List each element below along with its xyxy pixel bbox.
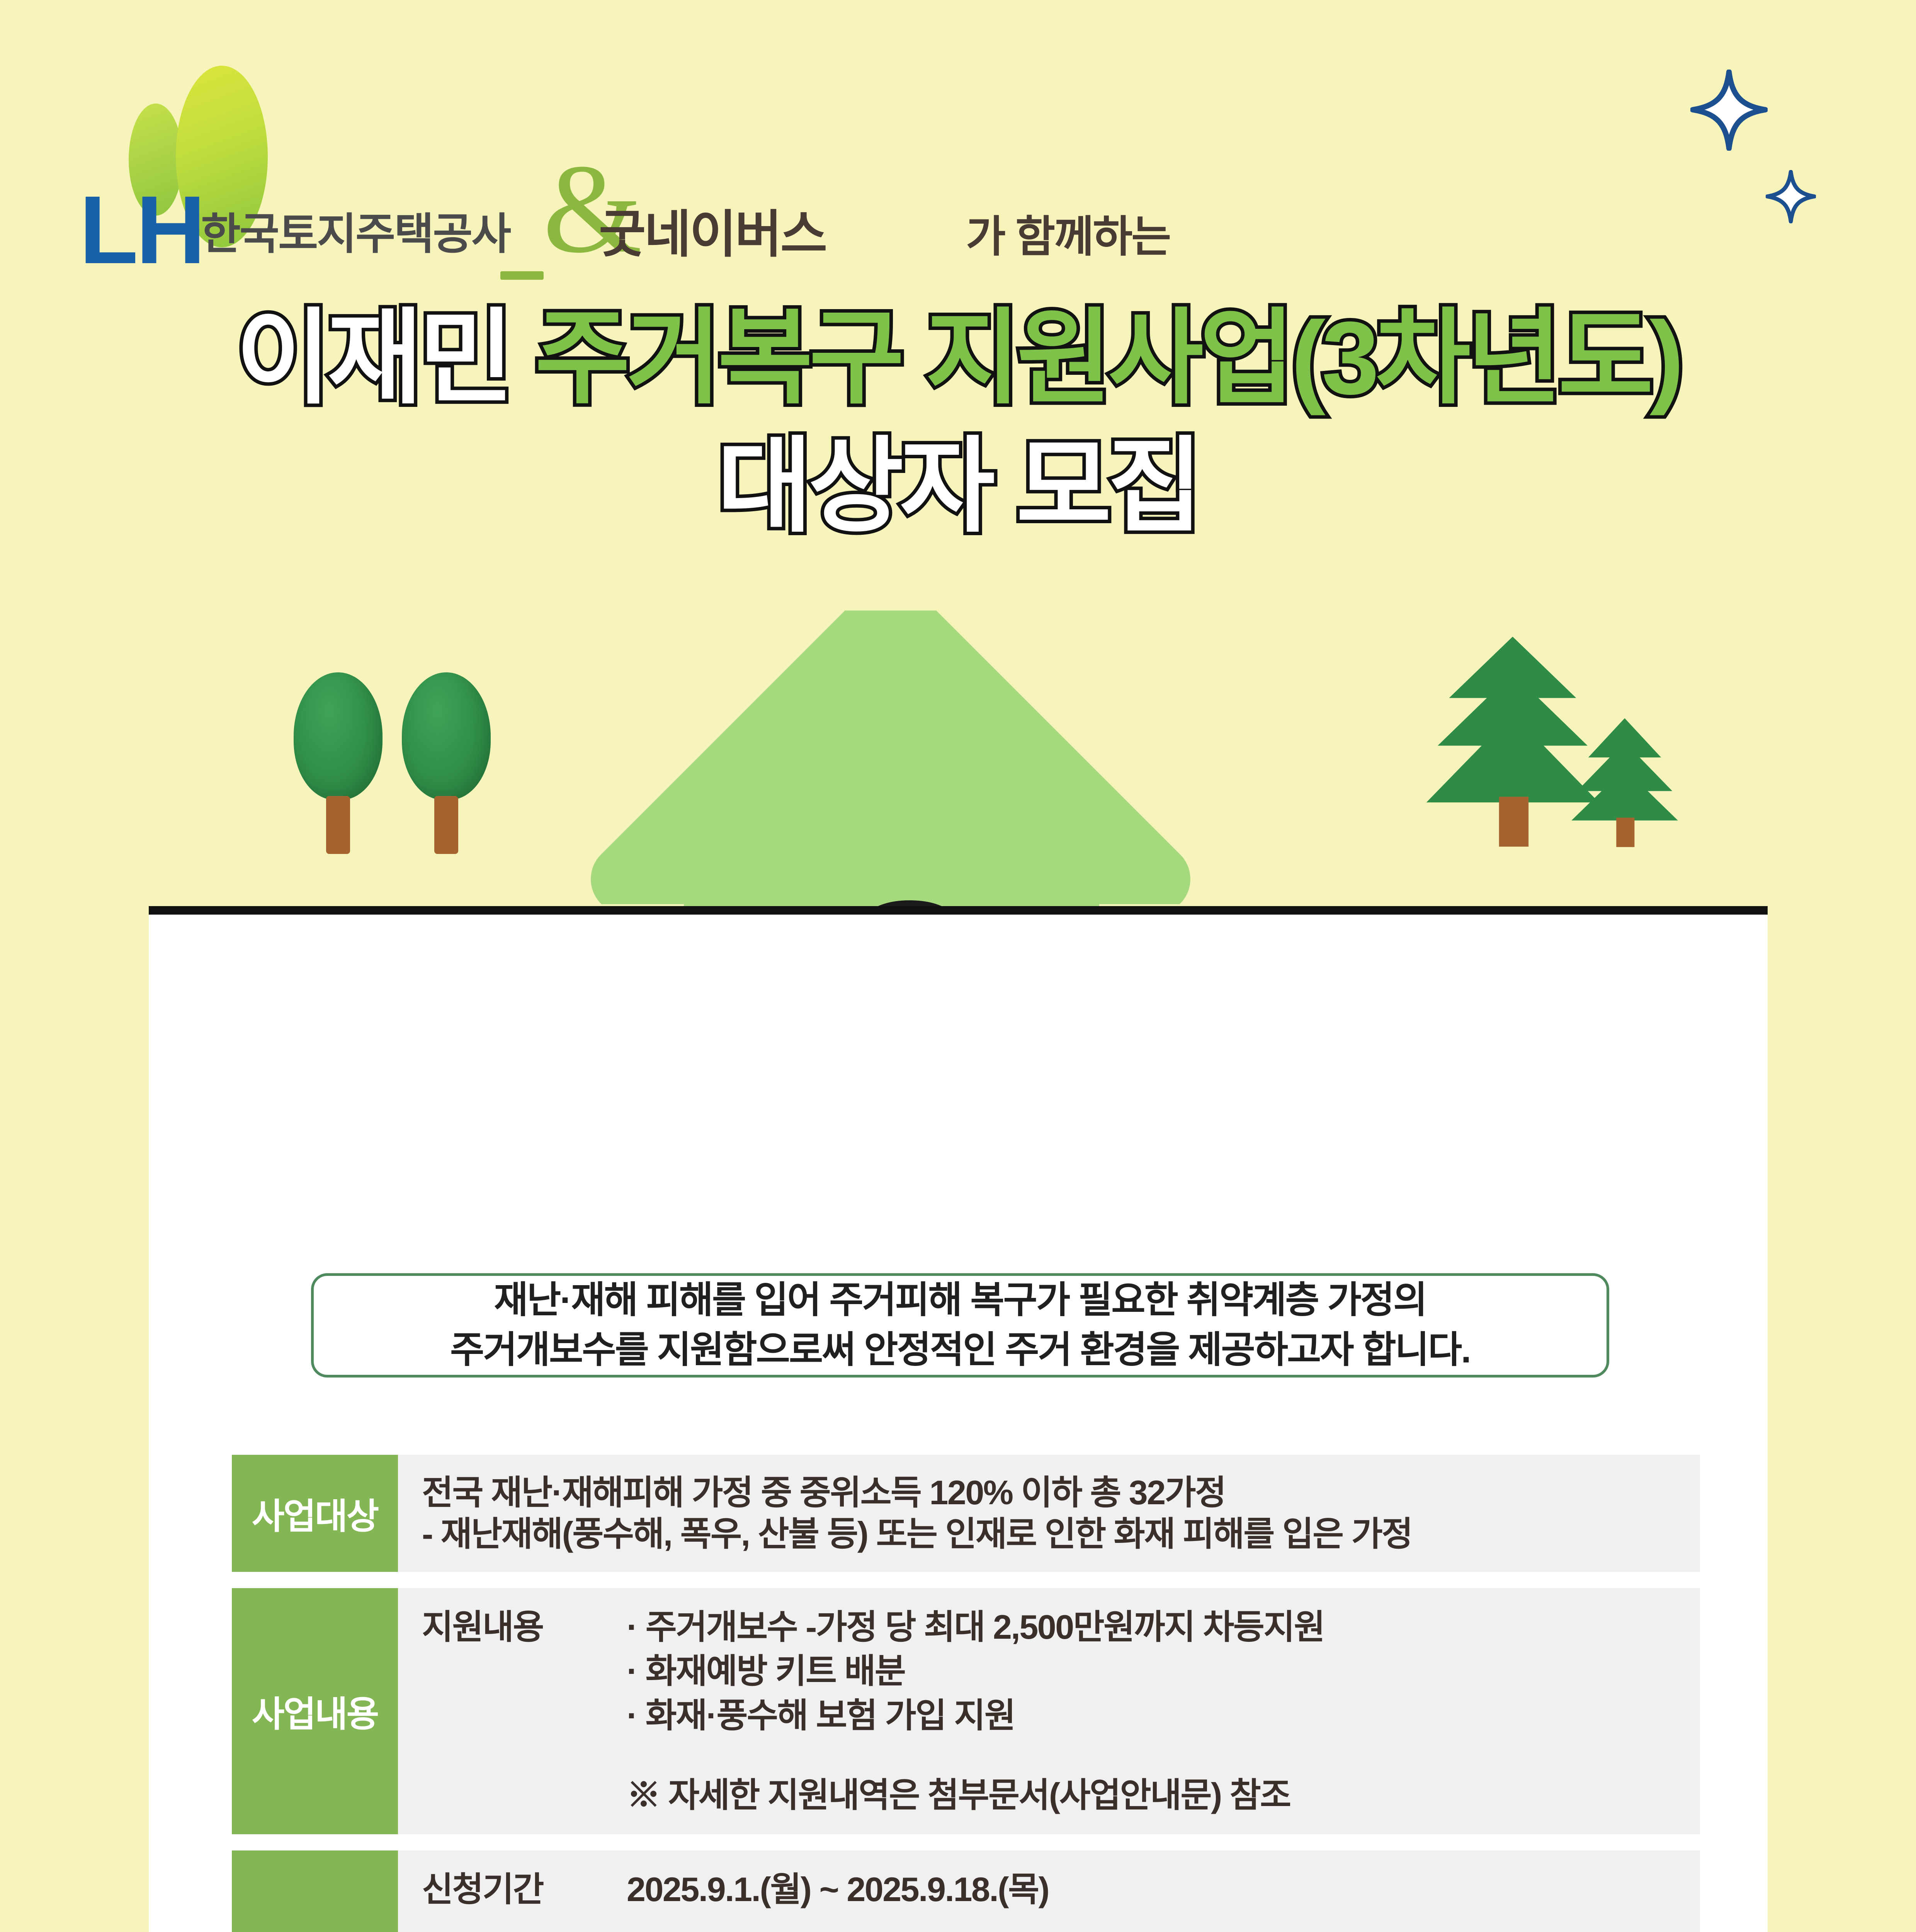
content-bullet-1: · 주거개보수 -가정 당 최대 2,500만원까지 차등지원: [627, 1605, 1681, 1649]
lh-company-name: 한국토지주택공사: [201, 199, 510, 262]
poster-root: LH 한국토지주택공사 & 굿네이버스 가 함께하는 이재민 주거복구 지원사업…: [0, 0, 1916, 1932]
intro-line-2: 주거개보수를 지원함으로써 안정적인 주거 환경을 제공하고자 합니다.: [450, 1327, 1470, 1374]
apply-period-value: 2025.9.1.(월) ~ 2025.9.18.(목): [627, 1867, 1681, 1912]
row-body-target: 전국 재난·재해피해 가정 중 중위소득 120% 이하 총 32가정 - 재난…: [398, 1455, 1700, 1572]
underscore-icon: [500, 271, 544, 280]
apply-period-key: 신청기간: [422, 1867, 627, 1912]
title-part-white: 이재민: [236, 300, 510, 416]
poster-title: 이재민 주거복구 지원사업(3차년도) 대상자 모집: [0, 294, 1916, 551]
lh-wordmark: LH: [79, 182, 203, 278]
target-line-2: - 재난재해(풍수해, 폭우, 산불 등) 또는 인재로 인한 화재 피해를 입…: [422, 1513, 1681, 1554]
header-tagline: 가 함께하는: [966, 202, 1170, 264]
row-body-content: 지원내용 · 주거개보수 -가정 당 최대 2,500만원까지 차등지원 · 화…: [398, 1588, 1700, 1835]
sparkle-icon: [1690, 70, 1768, 153]
pine-tree-small-icon: [1569, 713, 1681, 850]
target-line-1: 전국 재난·재해피해 가정 중 중위소득 120% 이하 총 32가정: [422, 1472, 1681, 1513]
content-pair: 지원내용 · 주거개보수 -가정 당 최대 2,500만원까지 차등지원 · 화…: [422, 1605, 1681, 1818]
apply-period-text: 2025.9.1.(월) ~ 2025.9.18.(목): [627, 1867, 1681, 1912]
row-label-content: 사업내용: [232, 1588, 398, 1835]
content-key: 지원내용: [422, 1605, 627, 1649]
table-row: 신청안내 신청기간 2025.9.1.(월) ~ 2025.9.18.(목) 신…: [232, 1850, 1700, 1932]
table-row: 사업대상 전국 재난·재해피해 가정 중 중위소득 120% 이하 총 32가정…: [232, 1455, 1700, 1572]
content-bullet-2: · 화재예방 키트 배분: [627, 1649, 1681, 1693]
info-table: 사업대상 전국 재난·재해피해 가정 중 중위소득 120% 이하 총 32가정…: [232, 1455, 1700, 1932]
sparkle-icon-small: [1766, 170, 1816, 225]
title-line-2: 대상자 모집: [0, 422, 1916, 550]
header-partners: LH 한국토지주택공사 & 굿네이버스 가 함께하는: [0, 66, 1916, 247]
intro-line-1: 재난·재해 피해를 입어 주거피해 복구가 필요한 취약계층 가정의: [494, 1277, 1426, 1324]
round-tree-icon: [402, 672, 491, 854]
ampersand-connector: &: [500, 162, 597, 290]
round-tree-icon: [294, 672, 383, 854]
intro-bubble: 재난·재해 피해를 입어 주거피해 복구가 필요한 취약계층 가정의 주거개보수…: [311, 1273, 1609, 1378]
title-line-1: 이재민 주거복구 지원사업(3차년도): [0, 294, 1916, 422]
title-part-green: 주거복구 지원사업(3차년도): [535, 300, 1680, 416]
apply-period-pair: 신청기간 2025.9.1.(월) ~ 2025.9.18.(목): [422, 1867, 1681, 1912]
content-values: · 주거개보수 -가정 당 최대 2,500만원까지 차등지원 · 화재예방 키…: [627, 1605, 1681, 1818]
table-row: 사업내용 지원내용 · 주거개보수 -가정 당 최대 2,500만원까지 차등지…: [232, 1588, 1700, 1835]
row-label-apply: 신청안내: [232, 1850, 398, 1932]
row-body-apply: 신청기간 2025.9.1.(월) ~ 2025.9.18.(목) 신청방법 신…: [398, 1850, 1700, 1932]
good-neighbors-wordmark: 굿네이버스: [599, 193, 826, 267]
content-bullet-3: · 화재·풍수해 보험 가입 지원: [627, 1694, 1681, 1738]
content-note: ※ 자세한 지원내역은 첨부문서(사업안내문) 참조: [627, 1773, 1681, 1817]
row-label-target: 사업대상: [232, 1455, 398, 1572]
